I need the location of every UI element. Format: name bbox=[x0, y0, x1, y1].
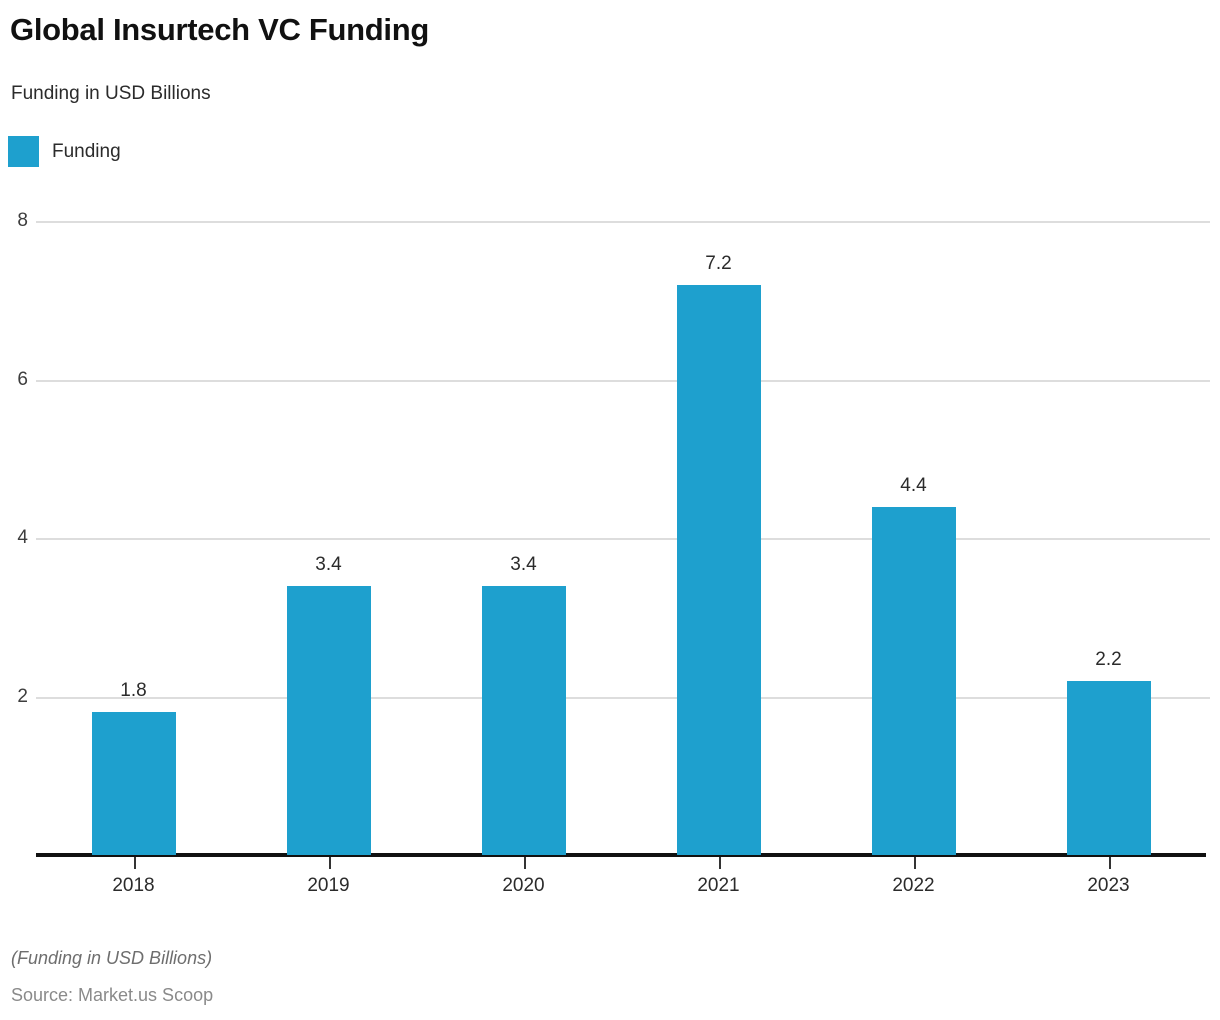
bar-2022[interactable] bbox=[872, 507, 956, 855]
bar-value-label: 2.2 bbox=[1095, 649, 1121, 671]
bar-2019[interactable] bbox=[287, 586, 371, 855]
gridline bbox=[36, 538, 1210, 540]
bar-value-label: 7.2 bbox=[705, 253, 731, 275]
x-axis-tick-label: 2019 bbox=[307, 875, 349, 897]
bar-2020[interactable] bbox=[482, 586, 566, 855]
x-axis-tick bbox=[134, 857, 136, 869]
x-axis-tick bbox=[719, 857, 721, 869]
gridline bbox=[36, 380, 1210, 382]
x-axis-tick bbox=[1109, 857, 1111, 869]
x-axis-tick-label: 2020 bbox=[502, 875, 544, 897]
bar-2021[interactable] bbox=[677, 285, 761, 855]
bar-value-label: 4.4 bbox=[900, 475, 926, 497]
bar-value-label: 3.4 bbox=[510, 554, 536, 576]
bar-value-label: 3.4 bbox=[315, 554, 341, 576]
chart-page: Global Insurtech VC Funding Funding in U… bbox=[0, 0, 1220, 1020]
bar-2018[interactable] bbox=[92, 712, 176, 855]
x-axis-tick-label: 2023 bbox=[1087, 875, 1129, 897]
y-axis-tick-label: 6 bbox=[8, 369, 28, 391]
x-axis-tick bbox=[329, 857, 331, 869]
chart-source: Source: Market.us Scoop bbox=[11, 985, 213, 1006]
x-axis-tick bbox=[524, 857, 526, 869]
x-axis-tick-label: 2022 bbox=[892, 875, 934, 897]
chart-footnote: (Funding in USD Billions) bbox=[11, 948, 212, 969]
x-axis-line bbox=[36, 853, 1206, 857]
bar-2023[interactable] bbox=[1067, 681, 1151, 855]
y-axis-tick-label: 4 bbox=[8, 527, 28, 549]
x-axis-tick bbox=[914, 857, 916, 869]
y-axis-tick-label: 2 bbox=[8, 686, 28, 708]
gridline bbox=[36, 221, 1210, 223]
x-axis-tick-label: 2018 bbox=[112, 875, 154, 897]
x-axis-tick-label: 2021 bbox=[697, 875, 739, 897]
gridline bbox=[36, 697, 1210, 699]
y-axis-tick-label: 8 bbox=[8, 210, 28, 232]
plot-area: 24681.820183.420193.420207.220214.420222… bbox=[0, 0, 1220, 1020]
bar-value-label: 1.8 bbox=[120, 680, 146, 702]
